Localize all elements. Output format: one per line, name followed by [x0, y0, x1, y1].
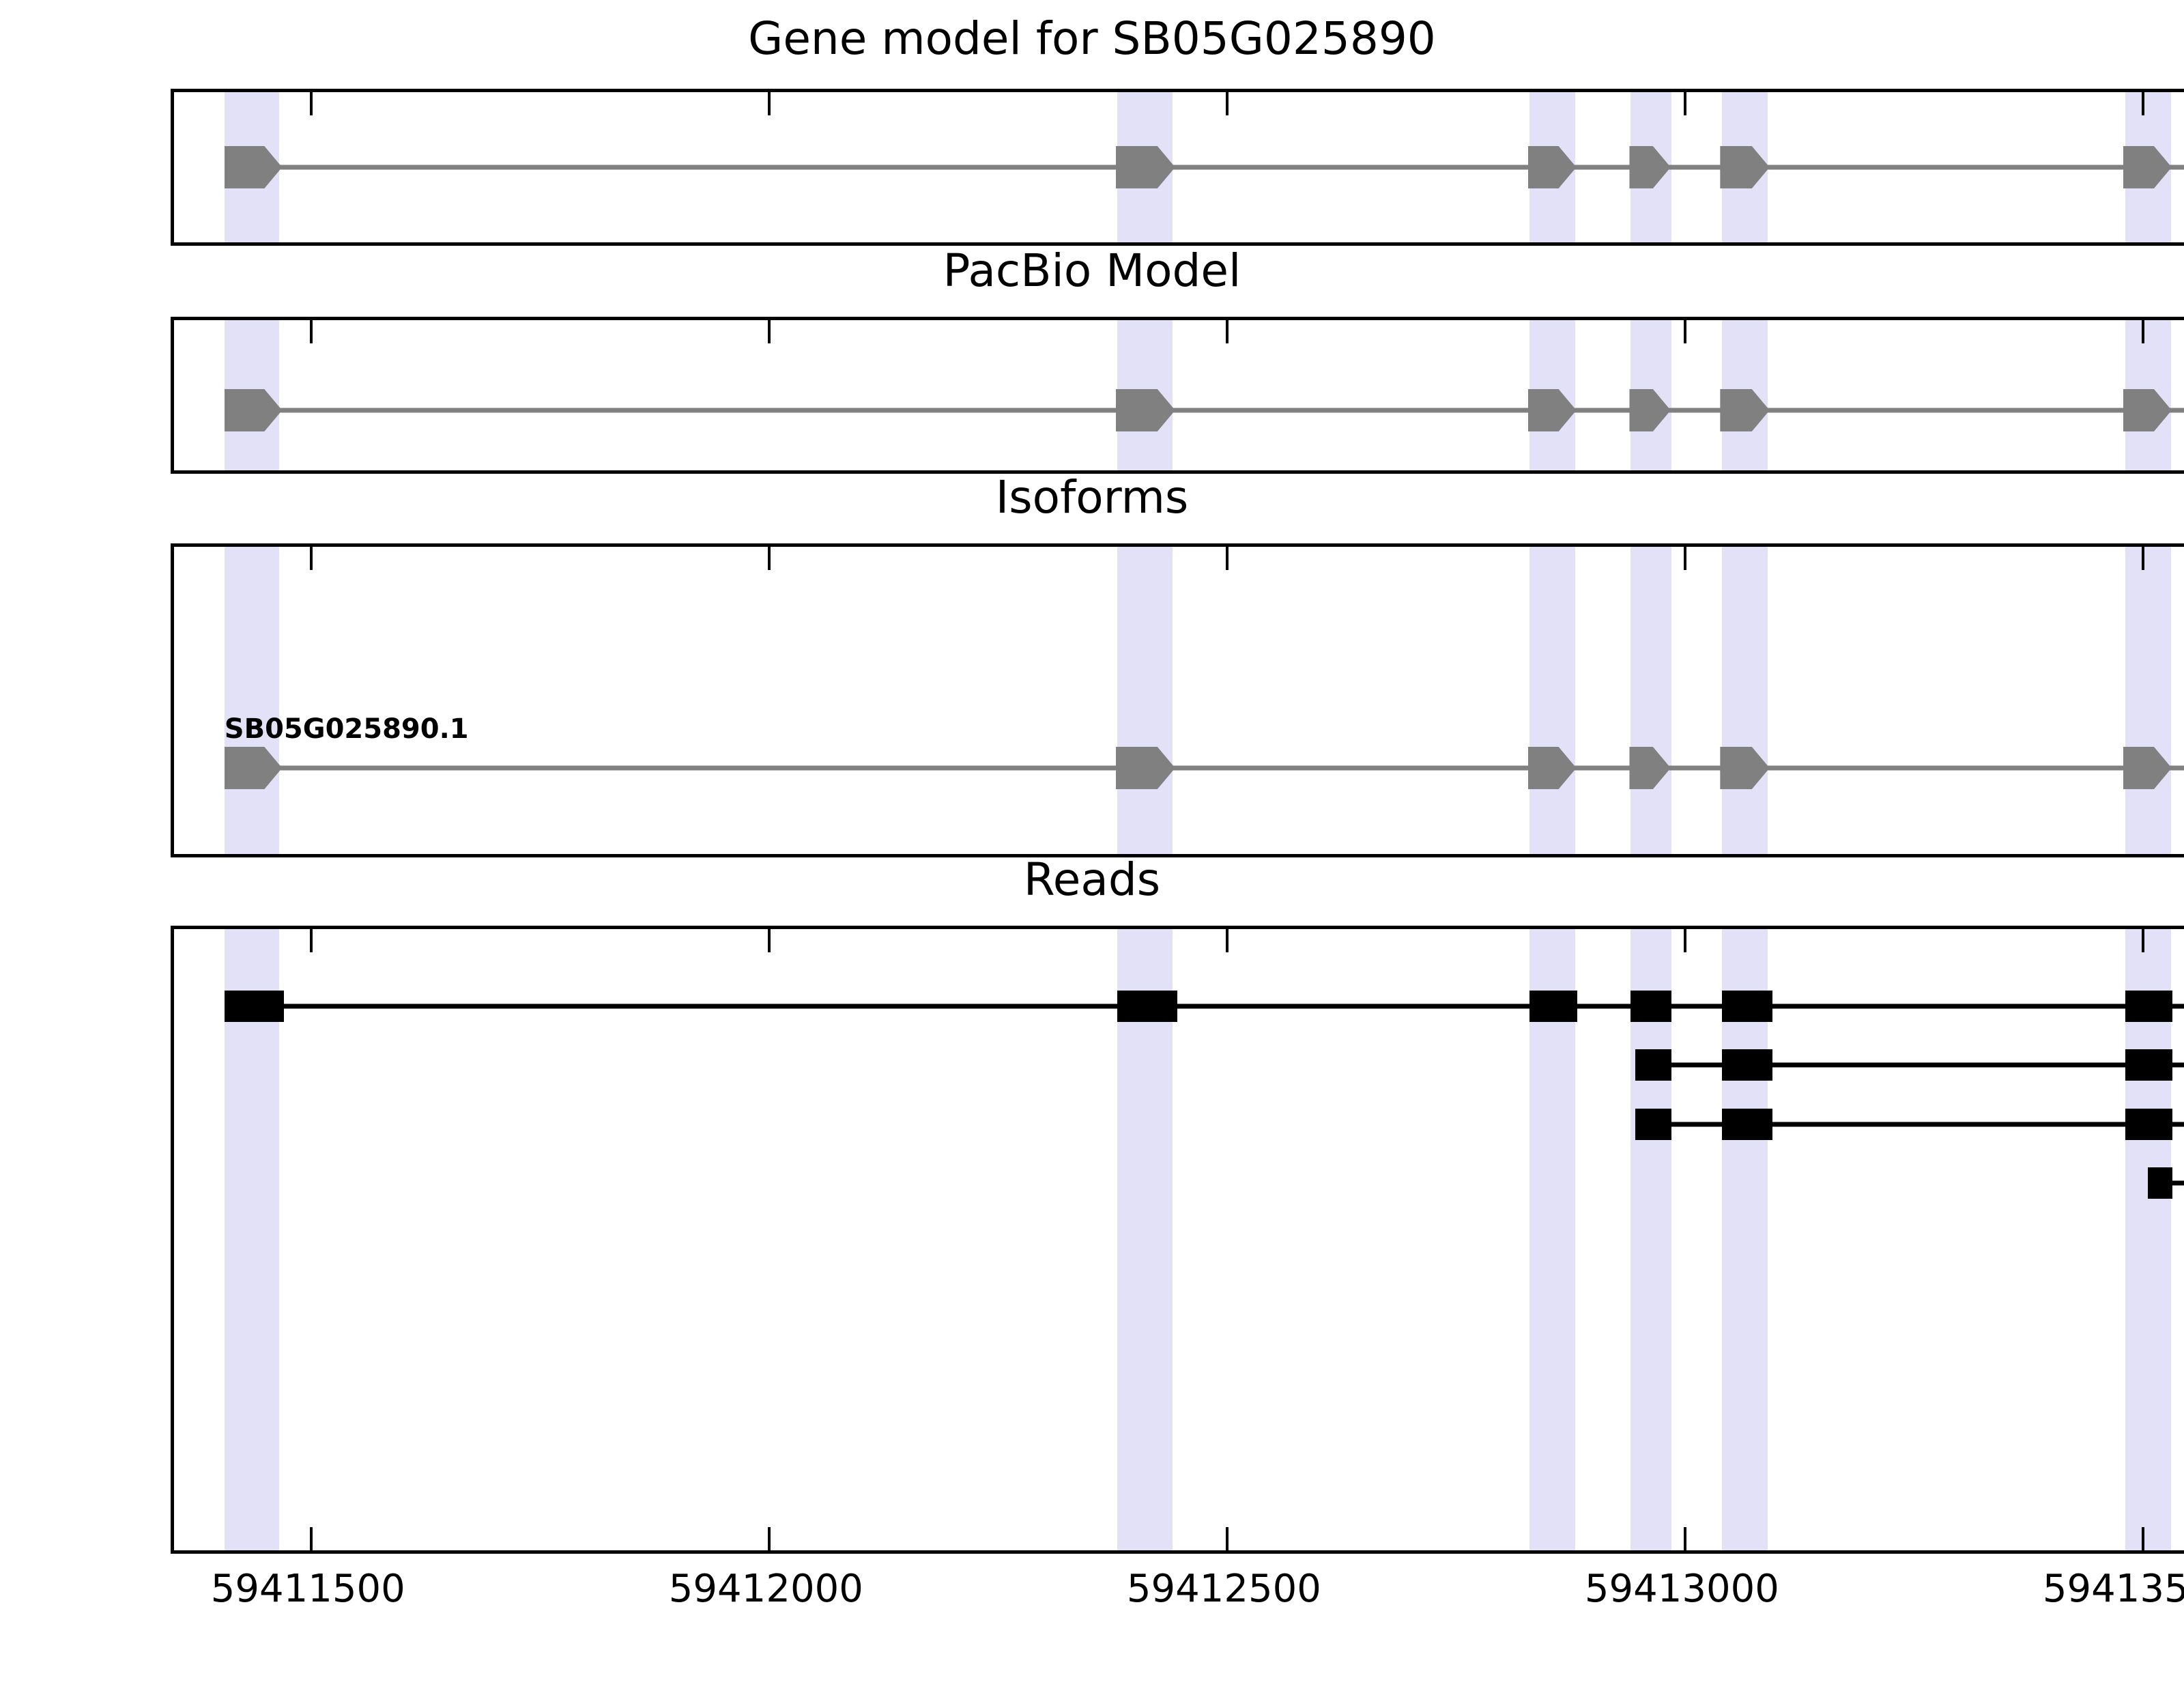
highlight-band — [1722, 547, 1768, 854]
panel-reads — [171, 926, 2184, 1554]
read-block — [1529, 991, 1577, 1022]
axis-tick — [2142, 92, 2144, 115]
read-block — [2125, 991, 2173, 1022]
x-tick-label: 59413500 — [2043, 1570, 2184, 1608]
read-block — [1635, 1109, 1672, 1140]
x-tick-label: 59412500 — [1127, 1570, 1321, 1608]
intron-line — [225, 766, 2184, 771]
highlight-band — [2125, 929, 2171, 1550]
highlight-band — [1630, 929, 1671, 1550]
x-axis: 5941150059412000594125005941300059413500… — [0, 1570, 2184, 1693]
x-tick-label: 59413000 — [1585, 1570, 1779, 1608]
axis-tick — [1684, 320, 1686, 343]
isoform-label: SB05G025890.1 — [225, 715, 469, 743]
gene-model-figure: Gene model for SB05G025890 PacBio Model … — [0, 0, 2184, 1638]
axis-tick — [768, 320, 771, 343]
panel-title-gene-model: Gene model for SB05G025890 — [0, 16, 2184, 61]
axis-tick — [1684, 547, 1686, 570]
axis-tick — [768, 547, 771, 570]
read-block — [1117, 991, 1177, 1022]
intron-line — [225, 165, 2184, 170]
axis-tick — [1684, 1527, 1686, 1550]
axis-tick — [1226, 92, 1228, 115]
axis-tick — [310, 547, 313, 570]
read-block — [2148, 1167, 2172, 1199]
highlight-band — [2125, 547, 2171, 854]
axis-tick — [768, 1527, 771, 1550]
read-block — [225, 991, 284, 1022]
axis-tick — [2142, 1527, 2144, 1550]
read-block — [2125, 1109, 2173, 1140]
highlight-band — [1117, 547, 1173, 854]
axis-tick — [310, 1527, 313, 1550]
panel-title-pacbio-model: PacBio Model — [0, 248, 2184, 294]
axis-tick — [768, 92, 771, 115]
axis-tick — [2142, 547, 2144, 570]
read-intron-line — [1635, 1122, 2184, 1126]
read-block — [1635, 1049, 1672, 1081]
highlight-band — [1117, 929, 1173, 1550]
highlight-band — [225, 929, 280, 1550]
axis-tick — [1226, 320, 1228, 343]
read-block — [2125, 1049, 2173, 1081]
read-block — [1722, 1049, 1772, 1081]
axis-tick — [1226, 929, 1228, 952]
axis-tick — [1226, 1527, 1228, 1550]
highlight-band — [1722, 929, 1768, 1550]
axis-tick — [2142, 320, 2144, 343]
axis-tick — [1226, 547, 1228, 570]
axis-tick — [1684, 92, 1686, 115]
x-tick-label: 59412000 — [669, 1570, 863, 1608]
highlight-band — [1529, 929, 1575, 1550]
read-intron-line — [1635, 1063, 2184, 1068]
read-block — [1722, 991, 1772, 1022]
panel-pacbio-model — [171, 317, 2184, 474]
panel-isoforms: SB05G025890_2SB05G025890.1 — [171, 543, 2184, 857]
highlight-band — [1529, 547, 1575, 854]
panel-title-isoforms: Isoforms — [0, 475, 2184, 520]
axis-tick — [768, 929, 771, 952]
intron-line — [225, 408, 2184, 413]
read-intron-line — [225, 1004, 2184, 1008]
read-block — [1630, 991, 1671, 1022]
read-block — [1722, 1109, 1772, 1140]
axis-tick — [2142, 929, 2144, 952]
axis-tick — [310, 92, 313, 115]
panel-gene-model — [171, 89, 2184, 246]
x-tick-label: 59411500 — [211, 1570, 405, 1608]
highlight-band — [1630, 547, 1671, 854]
axis-tick — [310, 320, 313, 343]
axis-tick — [1684, 929, 1686, 952]
panel-title-reads: Reads — [0, 857, 2184, 902]
axis-tick — [310, 929, 313, 952]
highlight-band — [225, 547, 280, 854]
